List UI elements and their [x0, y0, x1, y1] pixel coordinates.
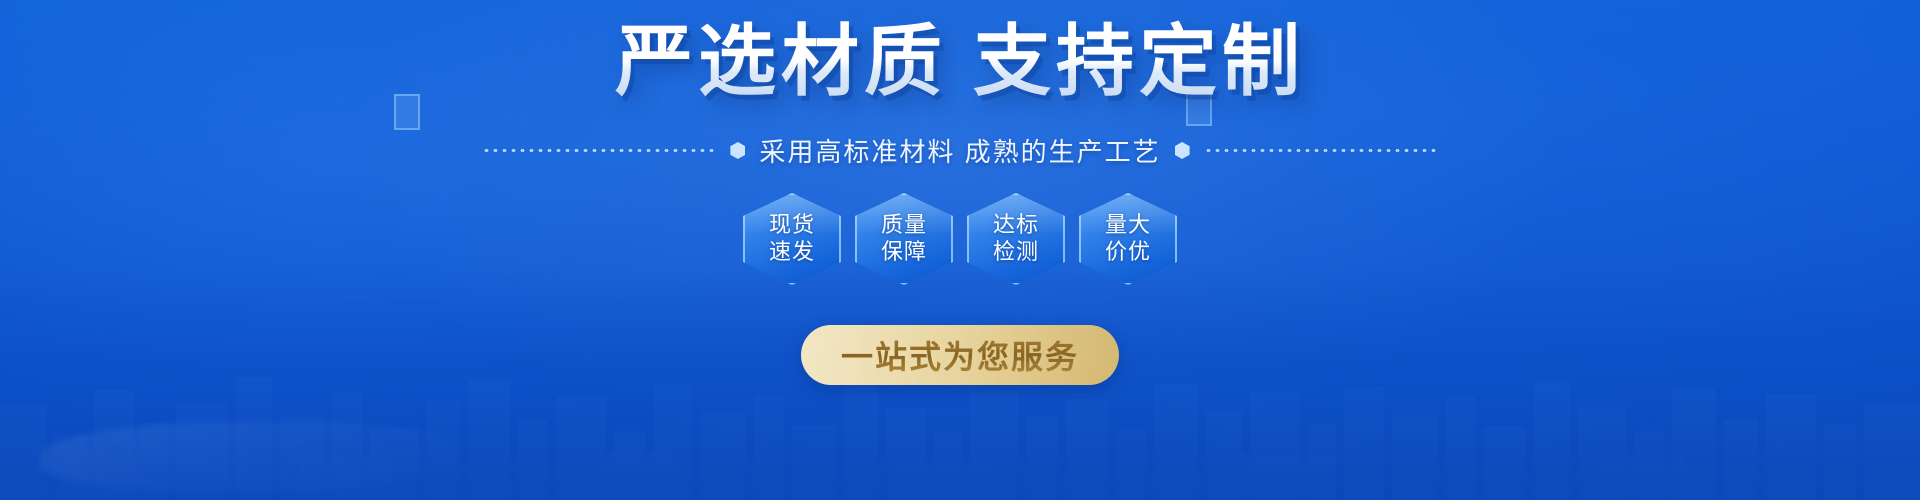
cityscape-silhouette: [0, 285, 1920, 500]
badge-line-1: 量大: [1105, 212, 1151, 239]
badge-line-2: 保障: [881, 239, 927, 266]
badge-line-1: 达标: [993, 212, 1039, 239]
hexagon-dot-left-icon: [730, 142, 745, 159]
dotted-line-right: [1204, 149, 1438, 152]
badge-line-1: 现货: [769, 212, 815, 239]
cta-label: 一站式为您服务: [841, 332, 1079, 378]
feature-badge-quality[interactable]: 质量 保障: [855, 193, 953, 285]
hexagon-dot-right-icon: [1175, 142, 1190, 159]
badge-line-2: 价优: [1105, 239, 1151, 266]
title-part-1: 严选材质: [615, 17, 947, 105]
headline-container: 严选材质支持定制: [0, 18, 1920, 105]
feature-badge-row: 现货 速发 质量 保障 达标 检测 量大 价优: [0, 193, 1920, 285]
badge-line-2: 检测: [993, 239, 1039, 266]
feature-badge-testing[interactable]: 达标 检测: [967, 193, 1065, 285]
page-title: 严选材质支持定制: [615, 18, 1305, 105]
badge-line-2: 速发: [769, 239, 815, 266]
one-stop-service-button[interactable]: 一站式为您服务: [801, 325, 1119, 385]
cityscape-haze: [0, 270, 1920, 500]
feature-badge-stock[interactable]: 现货 速发: [743, 193, 841, 285]
river-highlight: [40, 422, 460, 492]
subtitle-row: 采用高标准材料 成熟的生产工艺: [0, 132, 1920, 169]
dotted-line-left: [482, 149, 716, 152]
title-part-2: 支持定制: [973, 17, 1305, 105]
promo-banner: 严选材质支持定制 采用高标准材料 成熟的生产工艺 现货 速发 质量 保障 达标 …: [0, 0, 1920, 500]
badge-line-1: 质量: [881, 212, 927, 239]
page-subtitle: 采用高标准材料 成熟的生产工艺: [759, 132, 1160, 169]
feature-badge-bulk-price[interactable]: 量大 价优: [1079, 193, 1177, 285]
cta-container: 一站式为您服务: [0, 325, 1920, 385]
